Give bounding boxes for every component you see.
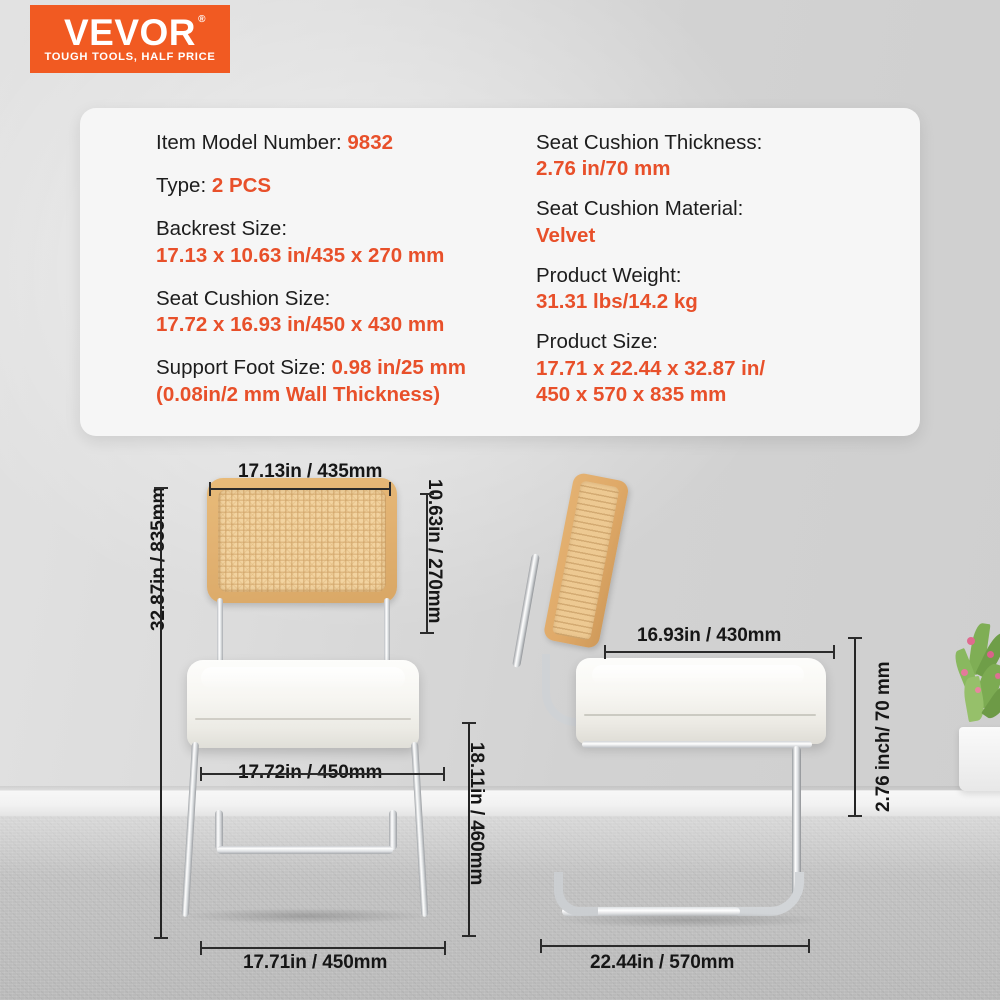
dim-base-depth-label: 22.44in / 570mm — [590, 952, 734, 974]
dim-cap — [420, 493, 434, 495]
dim-cap — [444, 941, 446, 955]
dim-base-width-line — [200, 947, 446, 949]
specification-card: Item Model Number: 9832 Type: 2 PCS Back… — [80, 108, 920, 436]
chair-floor-shadow — [181, 908, 431, 924]
plant-flower — [961, 669, 968, 676]
seat-highlight — [201, 667, 405, 689]
dim-backrest-width-line — [209, 488, 391, 490]
dim-cap — [462, 935, 476, 937]
dim-cap — [389, 482, 391, 496]
seat-under-rail — [582, 741, 812, 748]
dim-cap — [540, 939, 542, 953]
spec-item-seat-cushion-size: Seat Cushion Size: 17.72 x 16.93 in/450 … — [156, 286, 492, 338]
dim-cushion-thickness-line — [854, 637, 856, 817]
dim-cap — [848, 637, 862, 639]
chair-front-view — [155, 470, 455, 940]
spec-value: 0.98 in/25 mm — [331, 356, 465, 379]
spec-label: Seat Cushion Material: — [536, 197, 743, 220]
dim-cap — [200, 767, 202, 781]
rattan-cane-webbing-side — [552, 480, 620, 641]
product-spec-image: VEVOR® TOUGH TOOLS, HALF PRICE Item Mode… — [0, 0, 1000, 1000]
spec-item-cushion-thickness: Seat Cushion Thickness: 2.76 in/70 mm — [536, 130, 902, 182]
spec-column-right: Seat Cushion Thickness: 2.76 in/70 mm Se… — [510, 130, 920, 436]
backrest-support-post-right — [384, 598, 390, 666]
dim-cushion-thickness-label: 2.76 inch/ 70 mm — [873, 662, 895, 812]
spec-label: Seat Cushion Size: — [156, 287, 330, 310]
dim-cap — [154, 487, 168, 489]
dim-cap — [833, 645, 835, 659]
dim-base-depth-line — [540, 945, 810, 947]
spec-column-left: Item Model Number: 9832 Type: 2 PCS Back… — [80, 130, 510, 436]
spec-value: 31.31 lbs/14.2 kg — [536, 289, 902, 315]
spec-item-support-foot-size: Support Foot Size: 0.98 in/25 mm (0.08in… — [156, 355, 492, 407]
plant-flower — [975, 687, 981, 693]
backrest-support-post-left — [217, 598, 223, 666]
spec-value: 17.13 x 10.63 in/435 x 270 mm — [156, 243, 492, 269]
dim-cap — [808, 939, 810, 953]
logo-tagline: TOUGH TOOLS, HALF PRICE — [44, 52, 215, 63]
spec-label: Seat Cushion Thickness: — [536, 131, 762, 154]
spec-value-secondary: (0.08in/2 mm Wall Thickness) — [156, 382, 492, 408]
plant-pot — [959, 727, 1000, 791]
seat-seam — [195, 718, 411, 720]
spec-item-type: Type: 2 PCS — [156, 173, 492, 199]
seat-highlight-side — [592, 665, 804, 685]
chrome-leg-right — [411, 742, 428, 917]
dim-cap — [209, 482, 211, 496]
spec-label: Backrest Size: — [156, 217, 287, 240]
dim-seat-width-line — [200, 773, 445, 775]
spec-label: Type: — [156, 174, 212, 197]
base-upright-right — [389, 810, 397, 850]
spec-value: Velvet — [536, 223, 902, 249]
seat-cushion-side — [576, 658, 826, 744]
plant-flower — [987, 651, 994, 658]
spec-label: Product Weight: — [536, 264, 681, 287]
spec-item-model-number: Item Model Number: 9832 — [156, 130, 492, 156]
dim-cap — [604, 645, 606, 659]
chair-side-view — [520, 462, 880, 940]
base-cross-rail — [217, 846, 393, 854]
spec-label: Support Foot Size: — [156, 356, 331, 379]
dim-cap — [200, 941, 202, 955]
spec-value: 17.71 x 22.44 x 32.87 in/ — [536, 356, 902, 382]
backrest-panel-side — [543, 472, 630, 650]
spec-value: 17.72 x 16.93 in/450 x 430 mm — [156, 312, 492, 338]
dim-cap — [420, 632, 434, 634]
spec-item-cushion-material: Seat Cushion Material: Velvet — [536, 196, 902, 248]
spec-item-backrest-size: Backrest Size: 17.13 x 10.63 in/435 x 27… — [156, 216, 492, 268]
dim-backrest-width-label: 17.13in / 435mm — [238, 461, 382, 483]
dim-backrest-height-line — [426, 493, 428, 634]
spec-label: Product Size: — [536, 330, 658, 353]
dim-total-height-line — [160, 487, 162, 939]
decorative-plant — [945, 615, 1000, 795]
chair-side-floor-shadow — [550, 912, 830, 928]
base-upright-left — [215, 810, 223, 850]
dim-cap — [154, 937, 168, 939]
spec-value: 2 PCS — [212, 174, 271, 197]
spec-value: 9832 — [347, 131, 393, 154]
cantilever-rear-curve — [554, 872, 598, 916]
rattan-cane-webbing — [218, 489, 386, 592]
plant-flower — [967, 637, 975, 645]
dim-cap — [848, 815, 862, 817]
plant-flower — [995, 673, 1000, 679]
dim-cap — [462, 722, 476, 724]
seat-seam-side — [584, 714, 816, 716]
logo-wordmark: VEVOR® — [64, 14, 196, 51]
dim-total-height-label: 32.87in / 835mm — [148, 487, 170, 631]
dim-seat-height-line — [468, 722, 470, 937]
spec-value-secondary: 450 x 570 x 835 mm — [536, 382, 902, 408]
vevor-logo: VEVOR® TOUGH TOOLS, HALF PRICE — [30, 5, 230, 73]
spec-item-product-weight: Product Weight: 31.31 lbs/14.2 kg — [536, 263, 902, 315]
dim-cap — [443, 767, 445, 781]
spec-label: Item Model Number: — [156, 131, 347, 154]
dim-seat-depth-label: 16.93in / 430mm — [637, 625, 781, 647]
dim-seat-depth-line — [604, 651, 835, 653]
backrest-panel — [207, 478, 397, 603]
spec-item-product-size: Product Size: 17.71 x 22.44 x 32.87 in/ … — [536, 329, 902, 408]
spec-value: 2.76 in/70 mm — [536, 156, 902, 182]
registered-mark-icon: ® — [198, 15, 206, 25]
dim-base-width-label: 17.71in / 450mm — [243, 952, 387, 974]
seat-cushion — [187, 660, 419, 748]
chrome-leg-left — [182, 742, 199, 917]
